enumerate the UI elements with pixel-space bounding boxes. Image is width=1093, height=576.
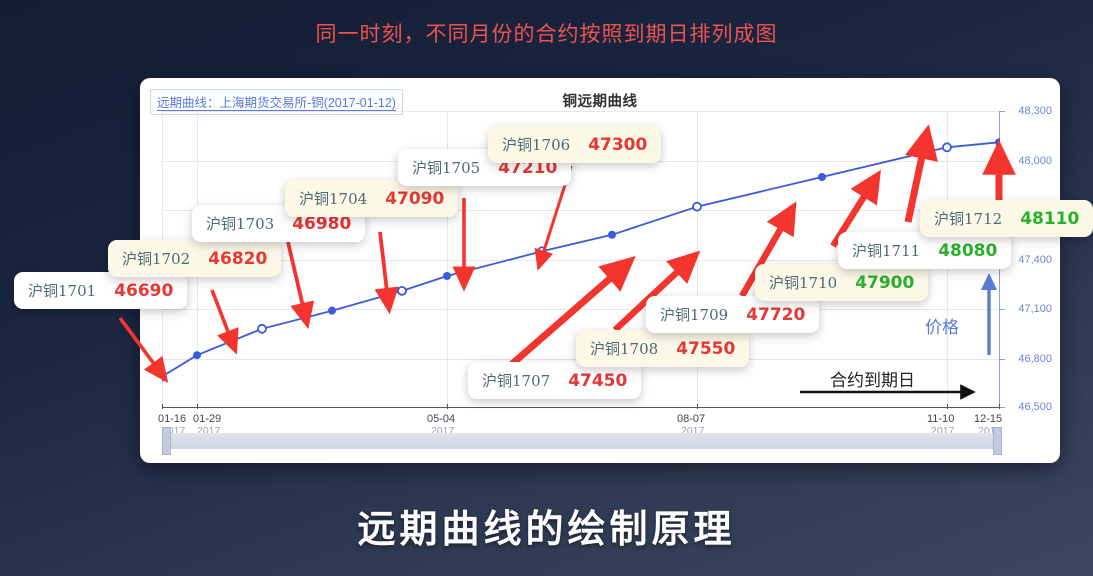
x-tick-date: 01-29 — [193, 413, 221, 425]
data-point[interactable] — [328, 307, 336, 315]
callout-price-value: 47300 — [588, 135, 647, 155]
callout-price-value: 46690 — [114, 281, 173, 301]
data-point[interactable] — [693, 203, 701, 211]
callout-contract-name: 沪铜1707 — [482, 370, 550, 391]
callout-1709[interactable]: 沪铜1709 47720 — [646, 296, 819, 333]
callout-price-value: 47450 — [568, 371, 627, 391]
callout-1711[interactable]: 沪铜1711 48080 — [838, 232, 1011, 269]
top-heading: 同一时刻，不同月份的合约按照到期日排列成图 — [0, 18, 1093, 48]
y-tick-mark — [1000, 407, 1005, 408]
callout-price-value: 47550 — [676, 339, 735, 359]
callout-1710[interactable]: 沪铜1710 47900 — [755, 264, 928, 301]
y-tick-label: 48,000 — [1018, 155, 1052, 167]
callout-price-value: 48080 — [938, 241, 997, 261]
y-tick-mark — [1000, 359, 1005, 360]
callout-price-value: 47900 — [855, 273, 914, 293]
price-axis-label: 价格 — [925, 313, 959, 338]
callout-price-value: 46820 — [208, 249, 267, 269]
callout-contract-name: 沪铜1702 — [122, 248, 190, 269]
callout-1701[interactable]: 沪铜1701 46690 — [14, 272, 187, 309]
datazoom-handle-left[interactable] — [162, 427, 171, 455]
callout-contract-name: 沪铜1710 — [769, 272, 837, 293]
data-point[interactable] — [608, 231, 616, 239]
callout-contract-name: 沪铜1709 — [660, 304, 728, 325]
callout-1702[interactable]: 沪铜1702 46820 — [108, 240, 281, 277]
y-tick-mark — [1000, 111, 1005, 112]
callout-1708[interactable]: 沪铜1708 47550 — [576, 330, 749, 367]
callout-contract-name: 沪铜1704 — [299, 188, 367, 209]
datazoom-slider[interactable] — [162, 433, 1000, 449]
callout-1706[interactable]: 沪铜1706 47300 — [488, 126, 661, 163]
x-tick-date: 08-07 — [677, 413, 705, 425]
y-tick-label: 46,500 — [1018, 401, 1052, 413]
callout-contract-name: 沪铜1703 — [206, 213, 274, 234]
callout-1707[interactable]: 沪铜1707 47450 — [468, 362, 641, 399]
y-tick-label: 48,300 — [1018, 105, 1052, 117]
callout-price-value: 48110 — [1020, 209, 1079, 229]
callout-contract-name: 沪铜1708 — [590, 338, 658, 359]
data-point[interactable] — [943, 143, 951, 151]
data-point[interactable] — [258, 325, 266, 333]
callout-contract-name: 沪铜1706 — [502, 134, 570, 155]
y-tick-mark — [1000, 309, 1005, 310]
y-tick-mark — [1000, 161, 1005, 162]
callout-price-value: 47720 — [746, 305, 805, 325]
callout-1712[interactable]: 沪铜1712 48110 — [920, 200, 1093, 237]
y-tick-label: 47,100 — [1018, 303, 1052, 315]
data-point[interactable] — [995, 138, 1000, 146]
callout-contract-name: 沪铜1712 — [934, 208, 1002, 229]
x-tick-date: 12-15 — [974, 413, 1002, 425]
datazoom-handle-right[interactable] — [993, 427, 1002, 455]
data-point[interactable] — [162, 373, 166, 381]
y-tick-label: 47,400 — [1018, 254, 1052, 266]
x-tick-date: 11-10 — [927, 413, 954, 425]
x-tick-date: 05-04 — [427, 413, 455, 425]
data-point[interactable] — [398, 287, 406, 295]
data-point[interactable] — [818, 173, 826, 181]
data-point[interactable] — [193, 351, 201, 359]
data-point[interactable] — [443, 272, 451, 280]
data-point[interactable] — [538, 247, 546, 255]
chart-title: 铜远期曲线 — [140, 90, 1060, 111]
bottom-heading: 远期曲线的绘制原理 — [0, 498, 1093, 553]
x-tick-date: 01-16 — [158, 413, 186, 425]
callout-price-value: 47090 — [385, 189, 444, 209]
callout-contract-name: 沪铜1701 — [28, 280, 96, 301]
callout-contract-name: 沪铜1711 — [852, 240, 920, 261]
y-tick-label: 46,800 — [1018, 353, 1052, 365]
callout-contract-name: 沪铜1705 — [412, 157, 480, 178]
expiry-axis-label: 合约到期日 — [830, 366, 915, 391]
